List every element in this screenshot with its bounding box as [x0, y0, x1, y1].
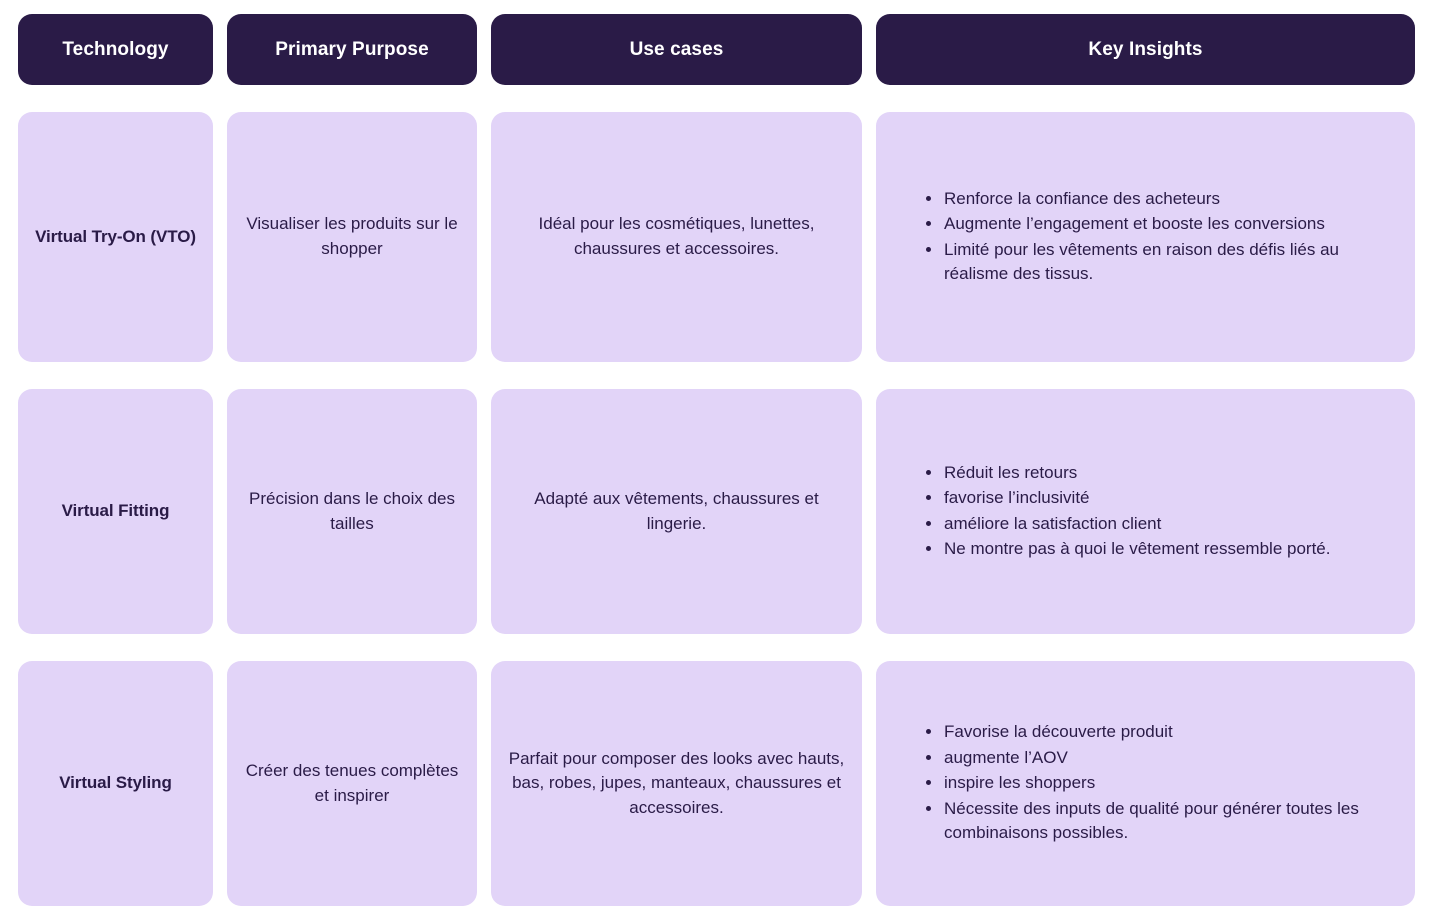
key-insight-item: Limité pour les vêtements en raison des … [926, 238, 1399, 287]
primary-purpose-text: Précision dans le choix des tailles [243, 487, 461, 536]
key-insight-item: améliore la satisfaction client [926, 512, 1330, 536]
key-insight-item: augmente l’AOV [926, 746, 1399, 770]
comparison-table: Technology Primary Purpose Use cases Key… [18, 14, 1421, 906]
key-insights-list: Favorise la découverte produitaugmente l… [900, 720, 1399, 846]
technology-label: Virtual Try-On (VTO) [35, 225, 196, 249]
cell-technology: Virtual Fitting [18, 389, 213, 634]
table-row: Virtual Styling Créer des tenues complèt… [18, 661, 1421, 906]
use-cases-text: Adapté aux vêtements, chaussures et ling… [507, 487, 846, 536]
use-cases-text: Parfait pour composer des looks avec hau… [507, 747, 846, 821]
cell-key-insights: Favorise la découverte produitaugmente l… [876, 661, 1415, 906]
cell-use-cases: Parfait pour composer des looks avec hau… [491, 661, 862, 906]
cell-primary-purpose: Créer des tenues complètes et inspirer [227, 661, 477, 906]
technology-label: Virtual Fitting [62, 499, 170, 523]
cell-key-insights: Renforce la confiance des acheteursAugme… [876, 112, 1415, 362]
cell-primary-purpose: Visualiser les produits sur le shopper [227, 112, 477, 362]
table-header-row: Technology Primary Purpose Use cases Key… [18, 14, 1421, 85]
use-cases-text: Idéal pour les cosmétiques, lunettes, ch… [507, 212, 846, 261]
technology-label: Virtual Styling [59, 771, 172, 795]
column-header-primary-purpose: Primary Purpose [227, 14, 477, 85]
cell-use-cases: Idéal pour les cosmétiques, lunettes, ch… [491, 112, 862, 362]
column-header-label: Primary Purpose [275, 39, 429, 61]
cell-technology: Virtual Styling [18, 661, 213, 906]
cell-primary-purpose: Précision dans le choix des tailles [227, 389, 477, 634]
key-insight-item: Réduit les retours [926, 461, 1330, 485]
key-insights-list: Renforce la confiance des acheteursAugme… [900, 187, 1399, 288]
table-row: Virtual Fitting Précision dans le choix … [18, 389, 1421, 634]
key-insight-item: favorise l’inclusivité [926, 486, 1330, 510]
primary-purpose-text: Visualiser les produits sur le shopper [243, 212, 461, 261]
key-insight-item: Ne montre pas à quoi le vêtement ressemb… [926, 537, 1330, 561]
primary-purpose-text: Créer des tenues complètes et inspirer [243, 759, 461, 808]
key-insight-item: inspire les shoppers [926, 771, 1399, 795]
column-header-label: Use cases [630, 39, 724, 61]
column-header-use-cases: Use cases [491, 14, 862, 85]
column-header-technology: Technology [18, 14, 213, 85]
cell-use-cases: Adapté aux vêtements, chaussures et ling… [491, 389, 862, 634]
column-header-key-insights: Key Insights [876, 14, 1415, 85]
key-insights-list: Réduit les retoursfavorise l’inclusivité… [900, 461, 1330, 563]
cell-technology: Virtual Try-On (VTO) [18, 112, 213, 362]
cell-key-insights: Réduit les retoursfavorise l’inclusivité… [876, 389, 1415, 634]
column-header-label: Key Insights [1088, 39, 1202, 61]
key-insight-item: Favorise la découverte produit [926, 720, 1399, 744]
key-insight-item: Augmente l’engagement et booste les conv… [926, 212, 1399, 236]
table-row: Virtual Try-On (VTO) Visualiser les prod… [18, 112, 1421, 362]
key-insight-item: Nécessite des inputs de qualité pour gén… [926, 797, 1399, 846]
column-header-label: Technology [62, 39, 168, 61]
key-insight-item: Renforce la confiance des acheteurs [926, 187, 1399, 211]
